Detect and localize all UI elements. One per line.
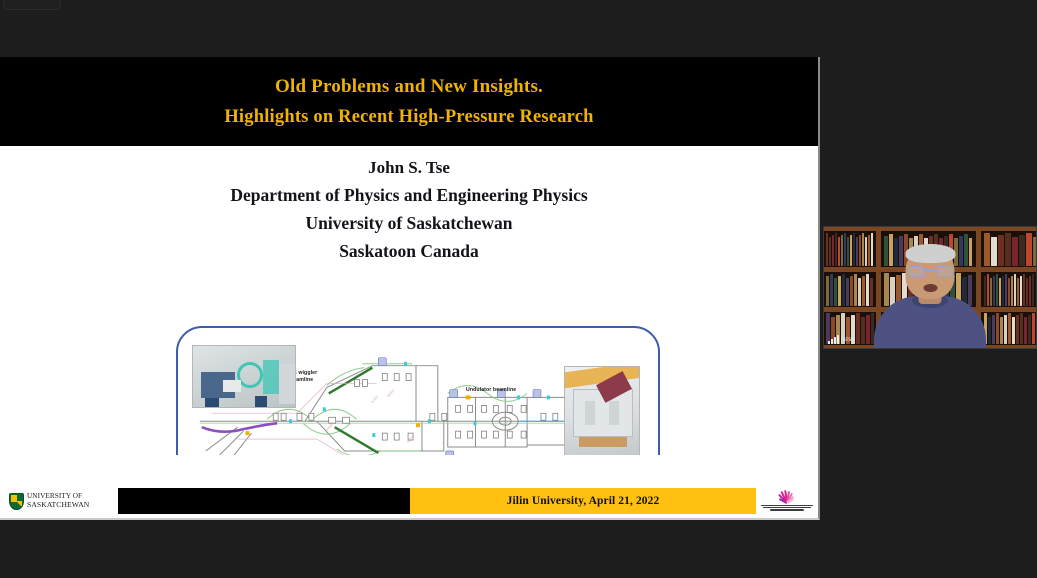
canadian-light-source-logo [756, 488, 818, 514]
footer-event-band: Jilin University, April 21, 2022 [410, 488, 756, 514]
slide-title-banner: Old Problems and New Insights. Highlight… [0, 57, 818, 146]
signal-bars-icon [828, 335, 839, 344]
meeting-screen-share-view: Old Problems and New Insights. Highlight… [0, 0, 1037, 578]
usask-shield-icon [9, 493, 24, 510]
svg-text:optics: optics [406, 434, 415, 444]
event-venue-date: Jilin University, April 21, 2022 [507, 495, 660, 507]
svg-text:optics: optics [386, 388, 395, 398]
bookshelf-row [826, 233, 874, 266]
participant-mouth [923, 284, 937, 292]
window-chrome-remnant [3, 0, 61, 10]
bookshelf-row [826, 273, 874, 306]
slide-title-line-1: Old Problems and New Insights. [275, 76, 543, 98]
participant-figure [874, 260, 986, 348]
experimental-hutch-photo [564, 366, 640, 456]
footer-black-band [118, 488, 410, 514]
participant-hair [905, 244, 955, 263]
slide-body: John S. Tse Department of Physics and En… [0, 146, 820, 457]
eyeglasses-icon [907, 266, 953, 277]
footer-bar: UNIVERSITY OF SASKATCHEWAN Jilin Univers… [0, 488, 818, 514]
label-undulator-beamline: Undulator beamline [466, 387, 516, 394]
participant-name-tag: jstse [841, 337, 855, 344]
author-block: John S. Tse Department of Physics and En… [0, 158, 818, 262]
bookshelf-row [984, 273, 1036, 306]
video-status-overlay: jstse [828, 335, 855, 344]
usask-logo-line-2: SASKATCHEWAN [27, 501, 89, 509]
author-institution: University of Saskatchewan [305, 213, 512, 234]
beamline-endstation-photo [192, 345, 296, 408]
cls-starburst-icon [772, 489, 802, 504]
slide-footer: UNIVERSITY OF SASKATCHEWAN Jilin Univers… [0, 455, 818, 518]
bookshelf-virtual-background [824, 227, 1036, 348]
author-department: Department of Physics and Engineering Ph… [230, 185, 587, 206]
svg-text:hutch: hutch [370, 395, 379, 404]
bookshelf-row [984, 313, 1036, 344]
shared-slide[interactable]: Old Problems and New Insights. Highlight… [0, 57, 820, 520]
author-city: Saskatoon Canada [339, 241, 479, 262]
cls-logo-caption [759, 505, 815, 514]
participant-head [906, 246, 955, 299]
slide-title-line-2: Highlights on Recent High-Pressure Resea… [224, 107, 593, 128]
author-name: John S. Tse [368, 158, 450, 178]
speaker-video-tile[interactable]: jstse [823, 226, 1037, 349]
university-of-saskatchewan-logo: UNIVERSITY OF SASKATCHEWAN [0, 488, 118, 514]
bookshelf-row [984, 233, 1036, 266]
